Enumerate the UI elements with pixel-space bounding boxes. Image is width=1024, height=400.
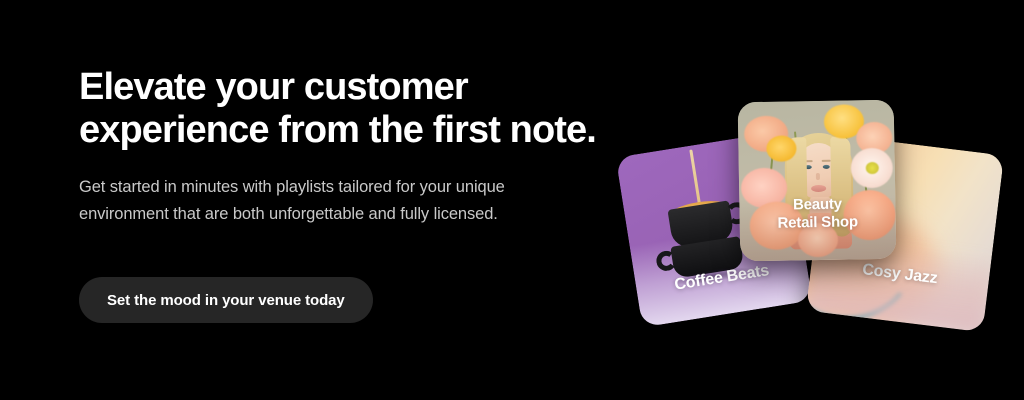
playlist-card-beauty-retail-shop[interactable]: Beauty Retail Shop: [738, 100, 897, 262]
page-title: Elevate your customer experience from th…: [79, 66, 639, 152]
hero-copy-block: Elevate your customer experience from th…: [79, 66, 639, 228]
playlist-card-label: Beauty Retail Shop: [739, 195, 896, 234]
hero-banner: Elevate your customer experience from th…: [0, 0, 1024, 400]
set-the-mood-cta-button[interactable]: Set the mood in your venue today: [79, 277, 373, 323]
playlist-card-cluster: Coffee Beats Cosy Jazz: [620, 80, 1024, 340]
woman-poppies-portrait-icon: [738, 100, 894, 103]
hero-subcopy: Get started in minutes with playlists ta…: [79, 174, 589, 228]
